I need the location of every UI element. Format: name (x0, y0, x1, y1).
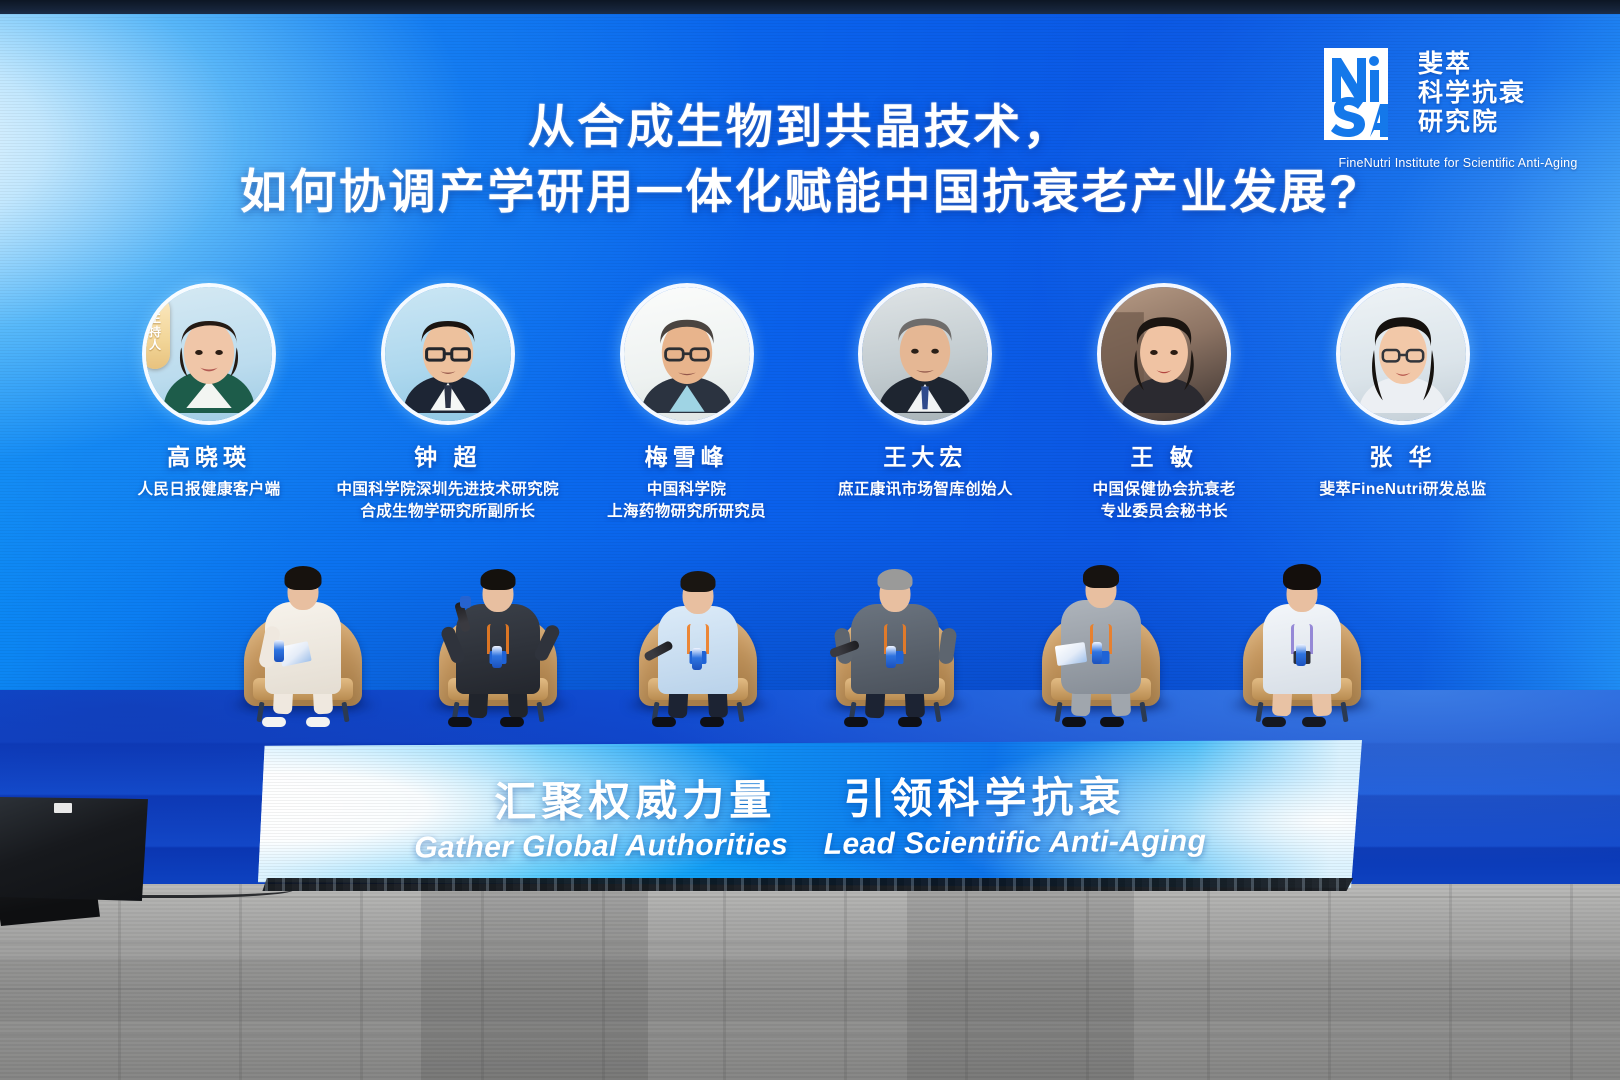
banner-cn-part1: 汇聚权威力量 (494, 776, 776, 825)
seated-panelist-5 (1022, 505, 1180, 720)
speaker-org-6-line1: 斐萃FineNutri研发总监 (1319, 479, 1486, 501)
speaker-name-3: 梅雪峰 (645, 438, 729, 472)
speaker-name-1: 高晓瑛 (167, 438, 251, 472)
seated-panelist-1 (228, 505, 378, 720)
seated-panelist-4 (812, 505, 977, 720)
foreground-led-banner: 汇聚权威力量 引领科学抗衰 Gather Global Authorities … (258, 740, 1362, 888)
speaker-portrait-5 (1097, 283, 1231, 425)
confidence-monitor (0, 797, 148, 901)
seated-panelist-2 (418, 505, 578, 720)
speaker-portrait-1: 主 持 人 (142, 283, 276, 425)
monitor-label-sticker (54, 803, 72, 813)
speaker-lineup: 主 持 人 高晓瑛 人民日报健康客户端 (96, 283, 1516, 498)
speaker-org-1: 人民日报健康客户端 (137, 479, 280, 501)
speaker-org-2-line1: 中国科学院深圳先进技术研究院 (336, 479, 559, 501)
panelist-booklet (1055, 642, 1087, 666)
session-title-line2: 如何协调产学研用一体化赋能中国抗衰老产业发展? (150, 160, 1450, 225)
speaker-card-3: 梅雪峰 中国科学院 上海药物研究所研究员 (574, 283, 800, 523)
banner-chinese-slogan: 汇聚权威力量 引领科学抗衰 (494, 763, 1126, 830)
conference-stage-photo: 斐萃 科学抗衰 研究院 FineNutri Institute for Scie… (0, 0, 1620, 1080)
speaker-portrait-4 (858, 283, 992, 425)
speaker-card-2: 钟 超 中国科学院深圳先进技术研究院 合成生物学研究所副所长 (335, 283, 561, 523)
speaker-name-5: 王 敏 (1130, 438, 1197, 472)
host-badge-char-2: 持 (149, 326, 161, 339)
speaker-card-5: 王 敏 中国保健协会抗衰老 专业委员会秘书长 (1051, 283, 1277, 523)
session-title-line1: 从合成生物到共晶技术， (150, 95, 1450, 160)
speaker-name-2: 钟 超 (414, 438, 481, 472)
session-title: 从合成生物到共晶技术， 如何协调产学研用一体化赋能中国抗衰老产业发展? (0, 95, 1620, 225)
speaker-org-6: 斐萃FineNutri研发总监 (1319, 479, 1486, 501)
banner-en-part2: Lead Scientific Anti-Aging (824, 825, 1207, 861)
speaker-org-4-line1: 庶正康讯市场智库创始人 (838, 479, 1013, 501)
speaker-org-3-line1: 中国科学院 (607, 479, 766, 501)
logo-cn-line1: 斐萃 (1418, 50, 1526, 78)
speaker-card-4: 王大宏 庶正康讯市场智库创始人 (812, 283, 1038, 501)
speaker-name-6: 张 华 (1369, 438, 1436, 472)
venue-carpet-floor (0, 884, 1620, 1080)
speaker-portrait-2 (381, 283, 515, 425)
host-role-badge: 主 持 人 (142, 295, 170, 369)
host-badge-char-1: 主 (149, 312, 161, 325)
seated-panelist-3 (620, 505, 775, 720)
seated-panelist-6 (1224, 505, 1379, 720)
speaker-card-1: 主 持 人 高晓瑛 人民日报健康客户端 (96, 283, 322, 501)
speaker-org-4: 庶正康讯市场智库创始人 (838, 479, 1013, 501)
speaker-org-1-line1: 人民日报健康客户端 (137, 479, 280, 501)
speaker-org-5-line1: 中国保健协会抗衰老 (1093, 479, 1236, 501)
speaker-portrait-3 (620, 283, 754, 425)
host-badge-char-3: 人 (149, 339, 161, 352)
banner-english-slogan: Gather Global Authorities Lead Scientifi… (414, 825, 1206, 866)
speaker-portrait-6 (1336, 283, 1470, 425)
banner-en-part1: Gather Global Authorities (414, 828, 788, 864)
banner-base-trim (258, 878, 1362, 891)
speaker-card-6: 张 华 斐萃FineNutri研发总监 (1290, 283, 1516, 501)
seated-panelists (0, 500, 1620, 720)
speaker-name-4: 王大宏 (883, 438, 967, 472)
carpet-tile-seams (0, 884, 1620, 1080)
banner-cn-part2: 引领科学抗衰 (843, 773, 1125, 822)
